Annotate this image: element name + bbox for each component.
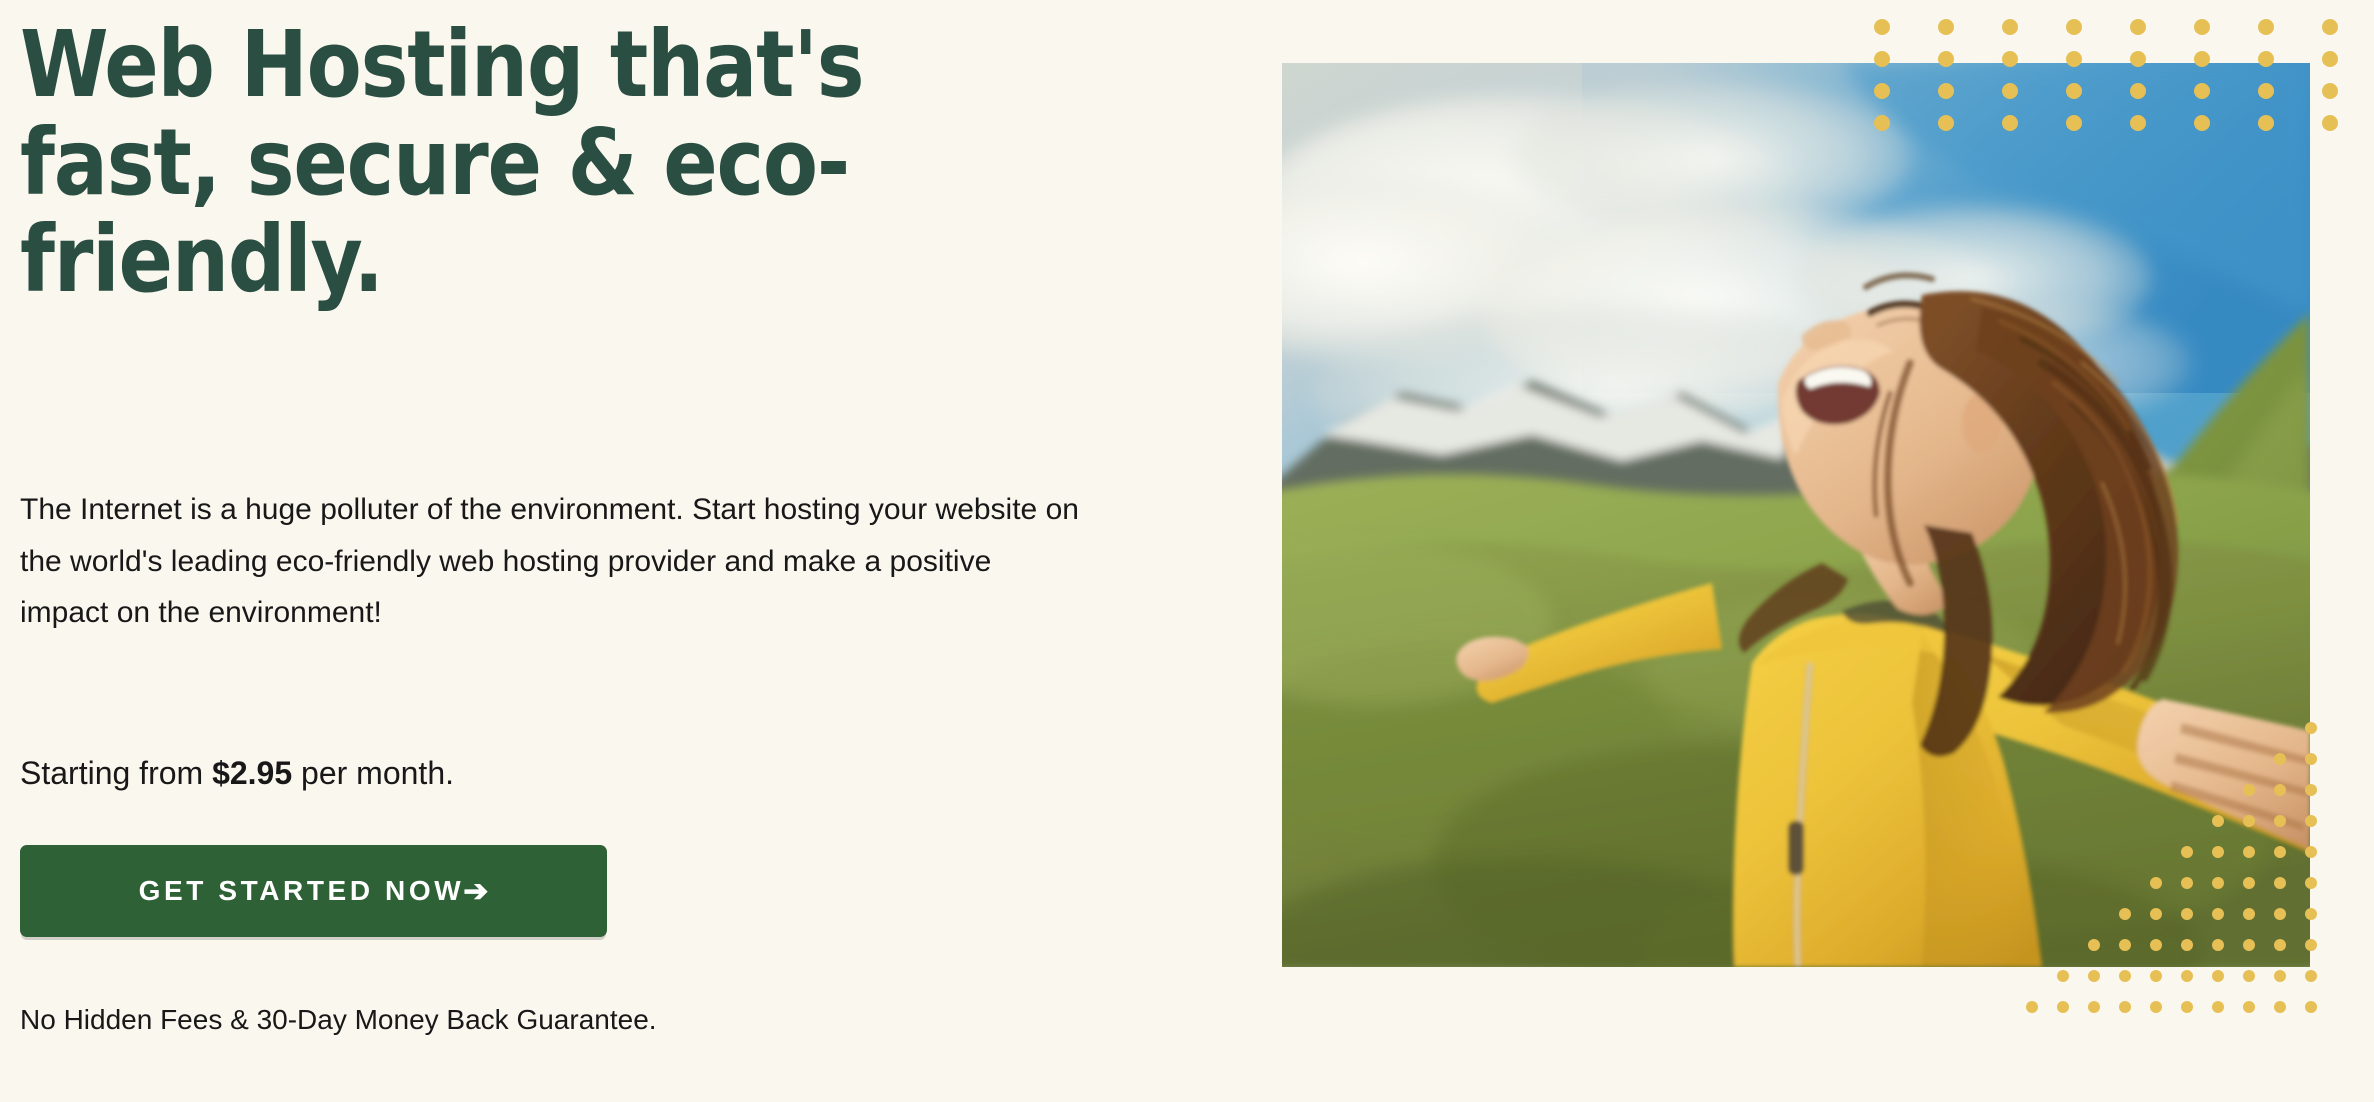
hero-section: Web Hosting that's fast, secure & eco-fr… [0, 0, 2374, 1102]
cta-label: GET STARTED NOW [139, 875, 465, 907]
get-started-button[interactable]: GET STARTED NOW➔ [20, 845, 607, 937]
price-line: Starting from $2.95 per month. [20, 754, 454, 792]
hero-image [1282, 63, 2310, 967]
hero-description: The Internet is a huge polluter of the e… [20, 484, 1080, 639]
price-prefix: Starting from [20, 755, 212, 791]
hero-copy-column: Web Hosting that's fast, secure & eco-fr… [20, 0, 1150, 1102]
hero-photo-graphic [1282, 63, 2310, 967]
page-title: Web Hosting that's fast, secure & eco-fr… [20, 16, 1048, 309]
price-amount: $2.95 [212, 755, 292, 791]
guarantee-text: No Hidden Fees & 30-Day Money Back Guara… [20, 1002, 657, 1038]
price-suffix: per month. [292, 755, 454, 791]
arrow-right-icon: ➔ [463, 877, 488, 907]
